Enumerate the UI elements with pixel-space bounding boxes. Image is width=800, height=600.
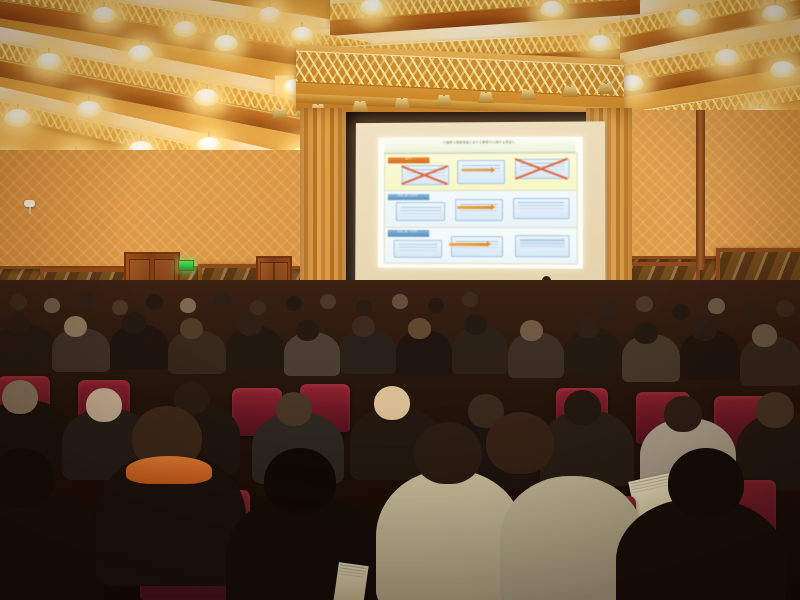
audience-head	[636, 296, 653, 312]
pendant-lamp	[128, 40, 153, 63]
audience-head	[520, 320, 543, 341]
slide-band-tag: 見直し案（その1）	[387, 194, 429, 200]
audience-head	[756, 392, 794, 428]
audience-head	[462, 292, 478, 307]
audience-head	[564, 390, 601, 425]
audience-head	[44, 298, 60, 313]
slide-title-bar: 介護老人保健施設における看取りに関する見直し	[384, 139, 576, 153]
conference-programme[interactable]	[333, 562, 368, 600]
pendant-lamp	[540, 0, 564, 18]
audience-head-foreground	[414, 422, 482, 484]
orange-scarf	[126, 456, 212, 484]
audience-head	[2, 380, 38, 414]
audience-head	[112, 300, 128, 315]
slide-arrow	[457, 206, 492, 209]
audience-head	[664, 396, 702, 432]
pendant-lamp	[762, 0, 787, 23]
pendant-lamp	[360, 0, 384, 16]
slide-box	[402, 165, 450, 185]
slide-box	[513, 197, 569, 218]
pendant-lamp	[770, 56, 796, 80]
slide-content: 介護老人保健施設における看取りに関する見直し 現 行 見直し案（その1）	[377, 137, 582, 269]
audience-head	[356, 300, 372, 315]
ceiling-camera-icon	[24, 200, 35, 207]
audience-head	[146, 294, 163, 310]
audience-head	[374, 386, 410, 420]
pendant-lamp	[194, 84, 219, 107]
audience-head	[122, 312, 146, 334]
audience-head	[180, 318, 203, 339]
audience-head	[10, 294, 27, 310]
slide-box	[457, 160, 505, 184]
audience-head	[752, 324, 777, 347]
wall-pilaster	[696, 110, 705, 270]
pendant-lamp	[291, 22, 313, 42]
audience-head	[392, 294, 408, 309]
audience-head	[238, 314, 262, 336]
slide-box	[515, 235, 570, 257]
slide-box	[394, 240, 442, 258]
slide-band: 現 行	[384, 153, 578, 191]
audience-head-foreground	[668, 448, 744, 518]
slide-box	[515, 158, 569, 179]
audience-head	[672, 304, 689, 320]
audience-head	[320, 294, 336, 309]
pendant-lamp	[4, 104, 31, 129]
audience-head	[408, 318, 431, 339]
audience-head	[180, 298, 196, 313]
audience-head	[64, 316, 87, 337]
pendant-lamp	[92, 2, 116, 24]
slide-band: 見直し案（その2）	[383, 227, 578, 265]
pendant-lamp	[676, 4, 701, 27]
slide-title-text: 介護老人保健施設における看取りに関する見直し	[384, 139, 576, 146]
audience-head	[86, 388, 122, 422]
audience-head	[428, 298, 444, 313]
audience-head	[78, 292, 95, 308]
pendant-lamp	[173, 16, 197, 38]
audience-head	[296, 320, 319, 341]
projection-screen: 介護老人保健施設における看取りに関する見直し 現 行 見直し案（その1）	[355, 121, 605, 291]
slide-box	[451, 236, 503, 257]
audience-head	[286, 296, 302, 311]
slide-box	[455, 199, 503, 221]
audience-head	[600, 302, 617, 318]
audience-head	[276, 392, 312, 426]
audience-head	[776, 300, 794, 317]
pendant-lamp	[214, 30, 238, 52]
pendant-lamp	[714, 44, 740, 68]
slide-arrow	[461, 169, 492, 172]
seated-audience	[0, 280, 800, 600]
slide-band: 見直し案（その1）	[384, 190, 579, 228]
slide-box	[396, 202, 446, 221]
audience-head	[744, 306, 762, 323]
slide-arrow	[449, 243, 487, 246]
audience-head	[214, 292, 231, 308]
audience-head	[634, 322, 658, 344]
audience-head-foreground	[486, 412, 554, 474]
audience-head	[352, 316, 375, 337]
exit-sign	[178, 260, 194, 271]
audience-head	[464, 314, 487, 335]
audience-head	[692, 318, 717, 341]
pendant-lamp	[588, 30, 612, 52]
conference-hall-photo: 介護老人保健施設における看取りに関する見直し 現 行 見直し案（その1）	[0, 0, 800, 600]
audience-head	[6, 312, 30, 334]
pendant-lamp	[258, 2, 282, 24]
audience-head	[576, 316, 600, 338]
pendant-lamp	[36, 48, 62, 72]
audience-head	[250, 300, 266, 315]
audience-head-foreground	[264, 448, 336, 514]
pendant-lamp	[76, 96, 102, 120]
slide-band-tag: 見直し案（その2）	[387, 230, 429, 236]
slide-band-tag: 現 行	[388, 157, 430, 163]
audience-head	[708, 298, 725, 314]
